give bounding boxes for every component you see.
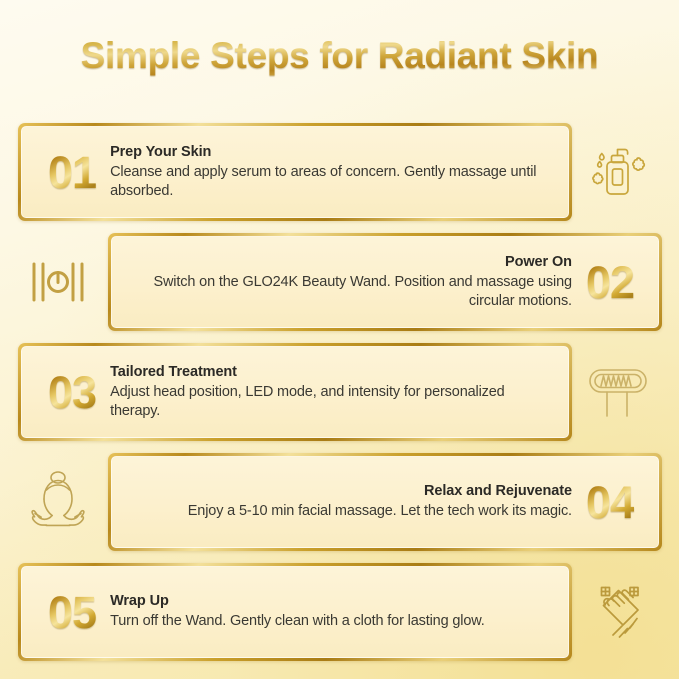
step-number-04: 04 [586,480,634,525]
step-item: 02 Power On Switch on the GLO24K Beauty … [0,228,679,338]
step-item: 01 Prep Your Skin Cleanse and apply seru… [0,118,679,228]
infographic-page: Simple Steps for Radiant Skin 01 Prep Yo… [0,0,679,679]
step-number-05: 05 [48,590,96,635]
step-number-01: 01 [48,150,96,195]
step-card-04: 04 Relax and Rejuvenate Enjoy a 5-10 min… [108,453,662,551]
page-title: Simple Steps for Radiant Skin [81,36,599,77]
step-title-01: Prep Your Skin [110,143,546,162]
step-description-03: Adjust head position, LED mode, and inte… [110,383,546,422]
power-button-icon [22,246,94,318]
step-card-05: 05 Wrap Up Turn off the Wand. Gently cle… [18,563,572,661]
step-card-01: 01 Prep Your Skin Cleanse and apply seru… [18,123,572,221]
step-item: 05 Wrap Up Turn off the Wand. Gently cle… [0,558,679,668]
step-number-03: 03 [48,370,96,415]
step-card-02: 02 Power On Switch on the GLO24K Beauty … [108,233,662,331]
cleaning-cloth-icon [582,576,654,648]
page-title-container: Simple Steps for Radiant Skin [0,36,679,77]
step-title-03: Tailored Treatment [110,363,546,382]
step-title-05: Wrap Up [110,592,546,611]
step-description-01: Cleanse and apply serum to areas of conc… [110,163,546,202]
step-title-04: Relax and Rejuvenate [134,482,572,501]
step-description-05: Turn off the Wand. Gently clean with a c… [110,612,546,631]
step-item: 04 Relax and Rejuvenate Enjoy a 5-10 min… [0,448,679,558]
serum-bottle-icon [582,136,654,208]
step-description-04: Enjoy a 5-10 min facial massage. Let the… [134,502,572,521]
step-description-02: Switch on the GLO24K Beauty Wand. Positi… [134,273,572,312]
led-treatment-head-icon [582,356,654,428]
step-item: 03 Tailored Treatment Adjust head positi… [0,338,679,448]
facial-massage-icon [22,466,94,538]
step-card-03: 03 Tailored Treatment Adjust head positi… [18,343,572,441]
step-number-02: 02 [586,260,634,305]
step-title-02: Power On [134,253,572,272]
steps-list: 01 Prep Your Skin Cleanse and apply seru… [0,118,679,668]
